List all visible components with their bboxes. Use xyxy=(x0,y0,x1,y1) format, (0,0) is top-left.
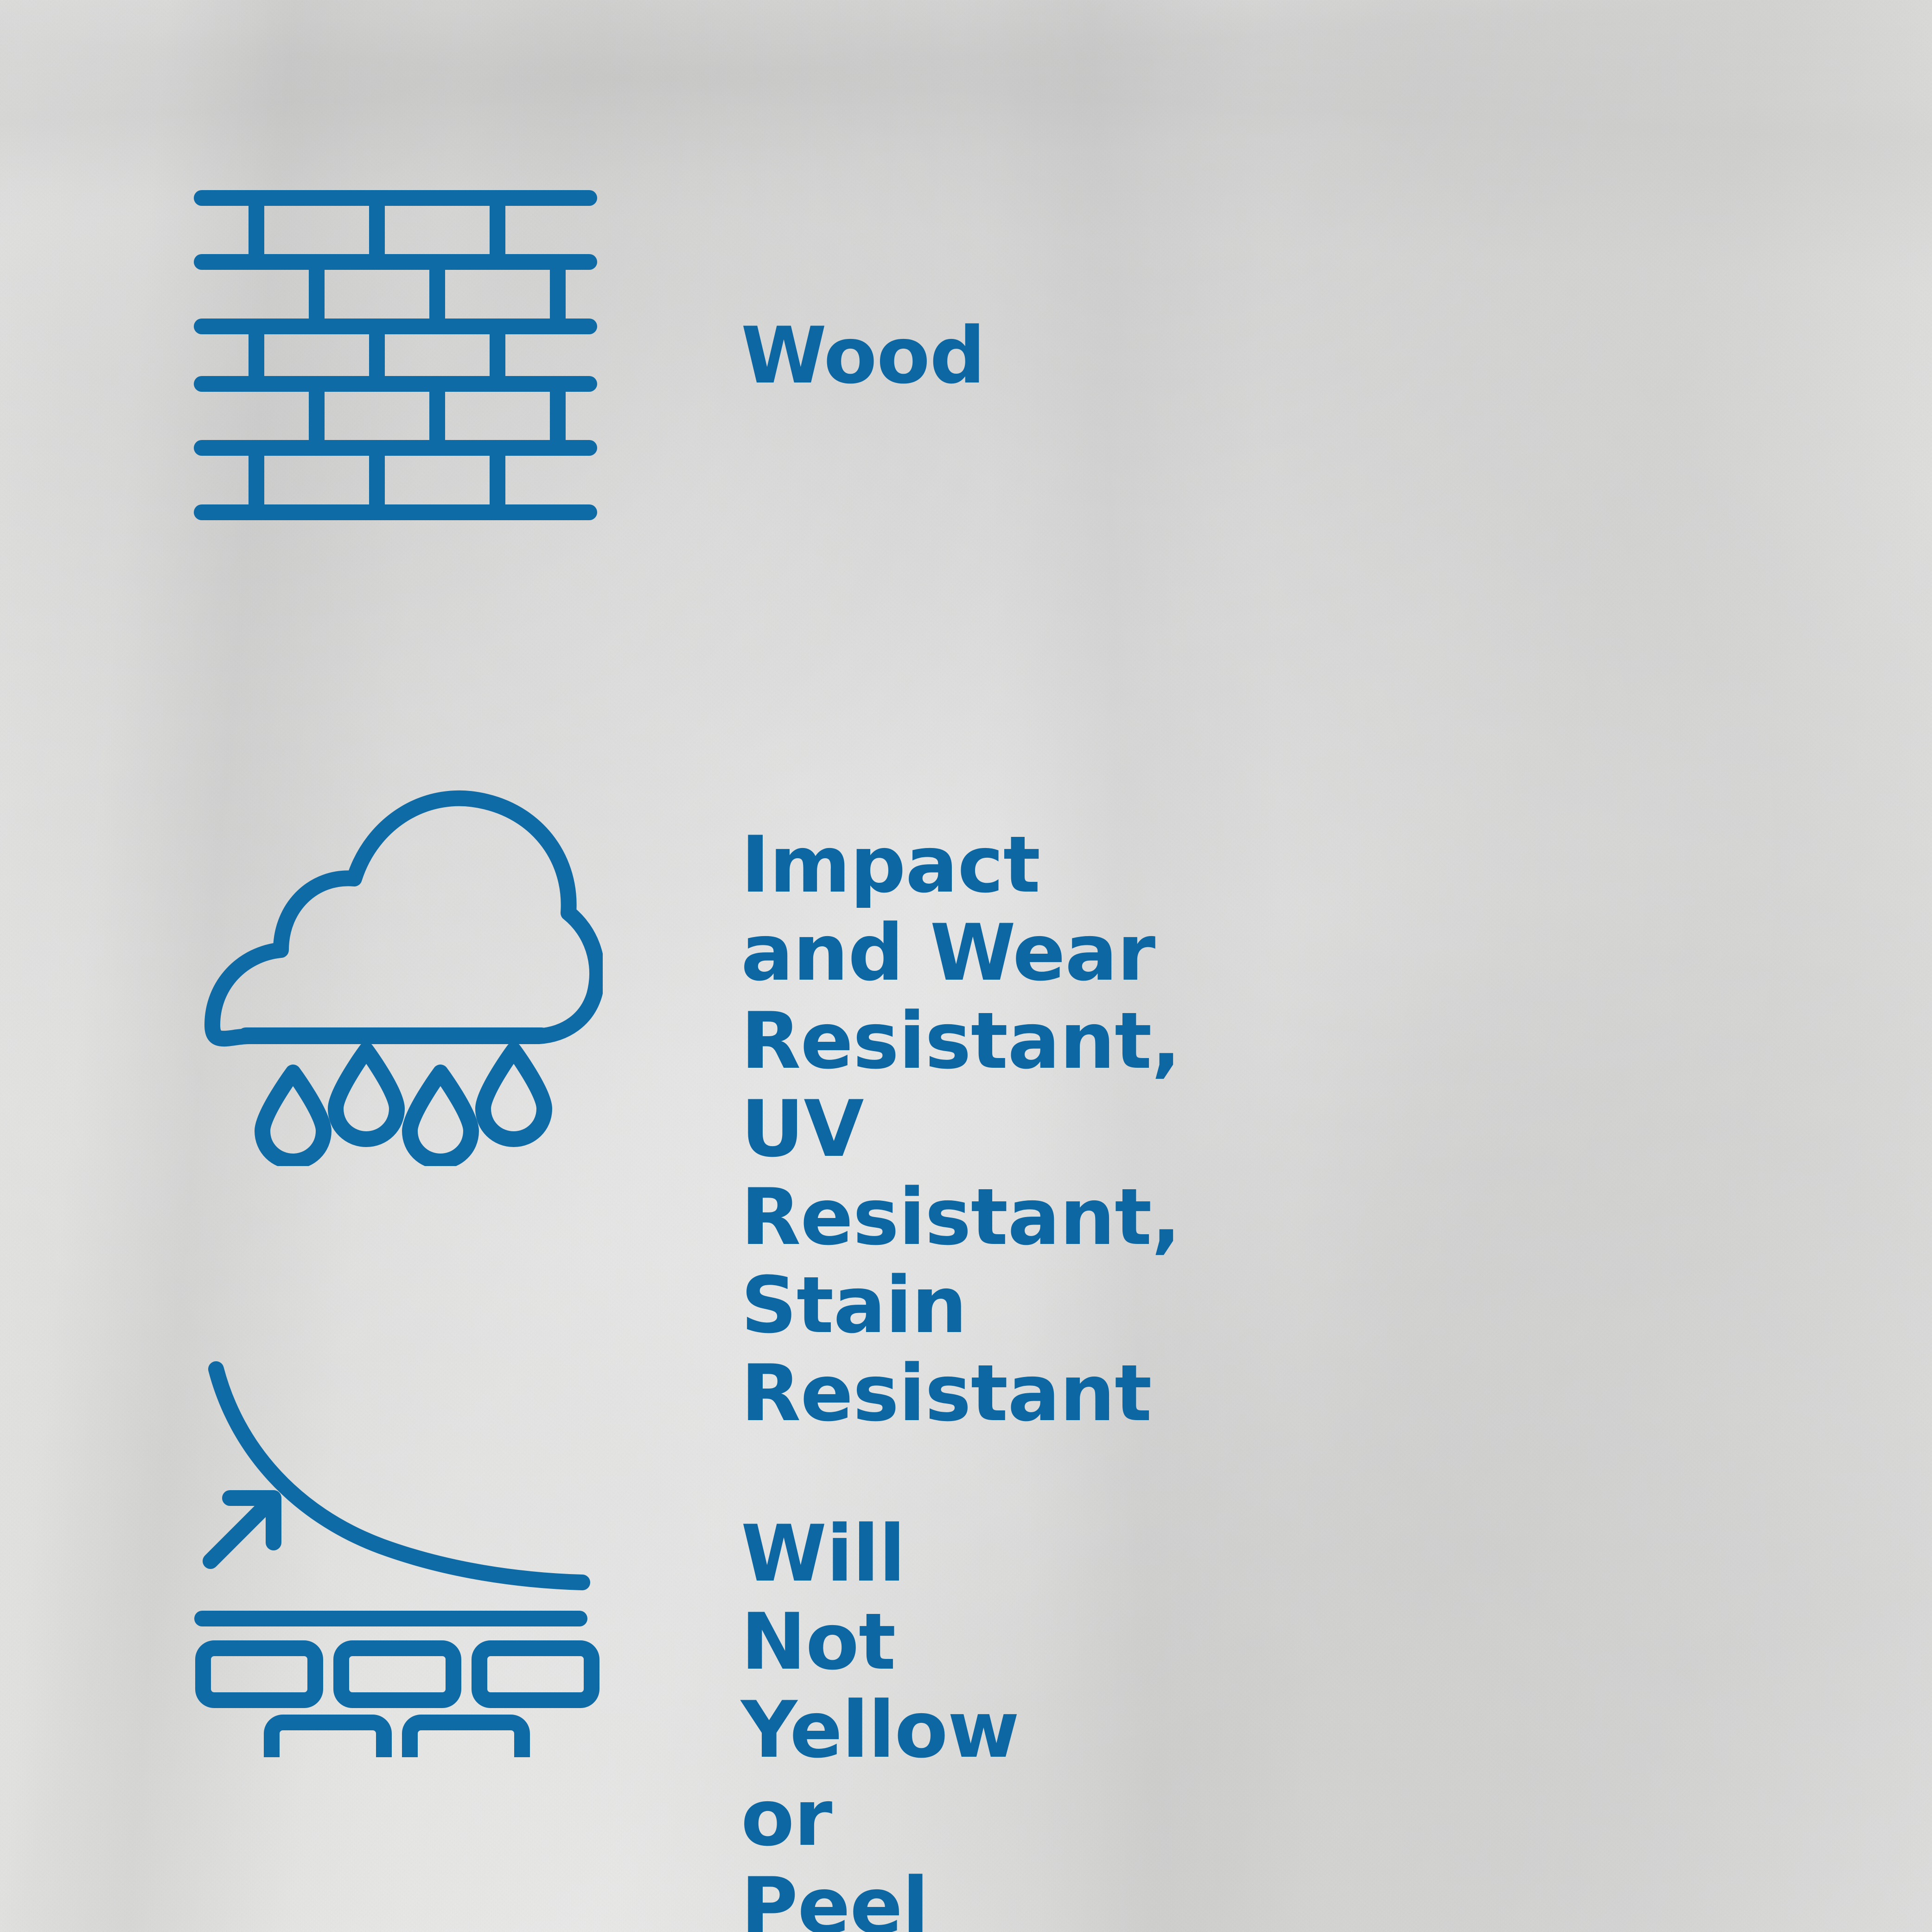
rain-cloud-icon xyxy=(195,753,603,1166)
feature-label-resistance: Impact and Wear Resistant, UV Resistant,… xyxy=(741,821,1180,1437)
brick-wall-icon xyxy=(194,190,597,520)
feature-label-wood: Wood xyxy=(741,312,985,400)
decking-durability-curve-icon xyxy=(194,1361,602,1757)
feature-label-no-yellow: Will Not Yellow or Peel xyxy=(741,1510,1019,1932)
feature-list: Wood Impact and Wear Resistant, UV Resis… xyxy=(0,0,1932,1932)
